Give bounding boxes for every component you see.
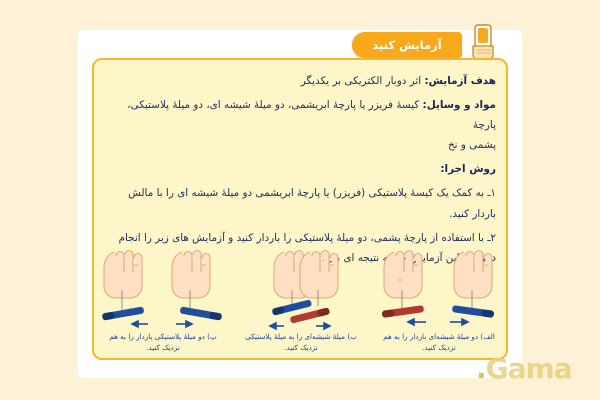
text-line-step1-cont: باردار کنید. <box>108 205 496 224</box>
text-line-materials: مواد و وسایل: کیسهٔ فریزر یا پارچهٔ ابری… <box>108 96 496 135</box>
label-materials: مواد و وسایل: <box>423 99 496 111</box>
figure-b: ب) میلهٔ شیشه‌ای را به میلهٔ پلاستیکی نز… <box>238 246 364 354</box>
page-background: آزمایش کنید هدف آزمایش: اثر دوبار الکتری… <box>0 0 600 400</box>
watermark-suffix: . <box>476 352 486 385</box>
label-goal: هدف آزمایش: <box>424 75 496 87</box>
watermark: Gama. <box>476 352 572 385</box>
watermark-text: Gama <box>486 352 572 385</box>
experiment-badge-label: آزمایش کنید <box>372 38 441 52</box>
text-line-method: روش اجرا: <box>108 160 496 179</box>
figure-b-caption: ب) میلهٔ شیشه‌ای را به میلهٔ پلاستیکی نز… <box>238 332 364 354</box>
figure-c: پ) دو میلهٔ پلاستیکی باردار را به هم نزد… <box>100 246 226 354</box>
figure-row: الف) دو میلهٔ شیشه‌ای باردار را به هم نز… <box>100 246 502 354</box>
figure-a: الف) دو میلهٔ شیشه‌ای باردار را به هم نز… <box>376 246 502 354</box>
text-goal: اثر دوبار الکتریکی بر یکدیگر <box>301 75 425 87</box>
figure-a-caption: الف) دو میلهٔ شیشه‌ای باردار را به هم نز… <box>376 332 502 354</box>
label-method: روش اجرا: <box>440 163 496 175</box>
experiment-badge: آزمایش کنید <box>352 32 462 58</box>
figure-c-caption: پ) دو میلهٔ پلاستیکی باردار را به هم نزد… <box>100 332 226 354</box>
text-line-goal: هدف آزمایش: اثر دوبار الکتریکی بر یکدیگر <box>108 72 496 91</box>
text-line-materials-cont: پشمی و نخ <box>108 136 496 155</box>
experiment-text: هدف آزمایش: اثر دوبار الکتریکی بر یکدیگر… <box>108 72 496 269</box>
text-line-step1: ۱ـ به کمک یک کیسهٔ پلاستیکی (فریزر) یا پ… <box>108 184 496 203</box>
